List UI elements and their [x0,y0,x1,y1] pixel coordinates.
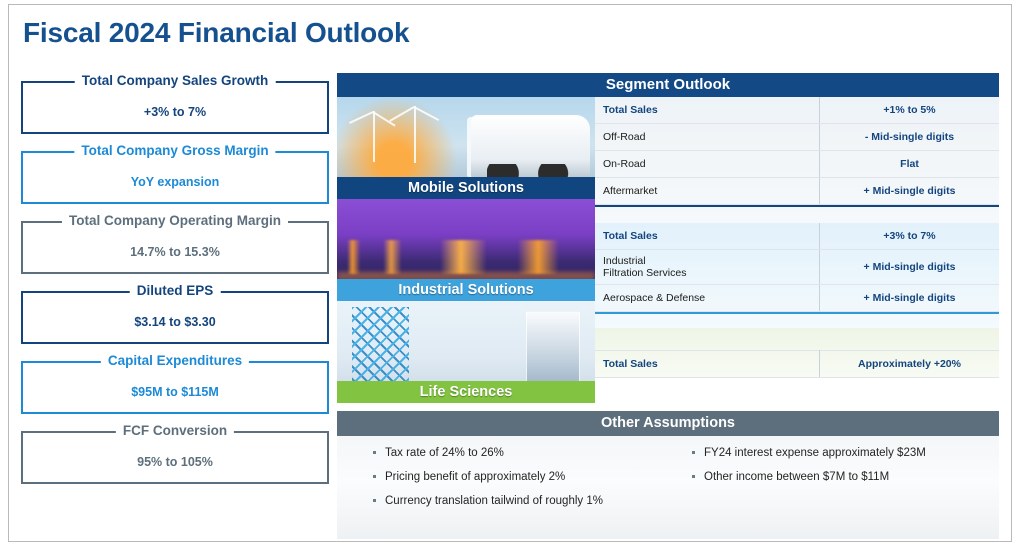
segment-table-life-sciences: Total Sales Approximately +20% [595,328,999,378]
metric-card-total-company-operating-margin[interactable]: Total Company Operating Margin 14.7% to … [21,213,329,274]
table-row: Total Sales +1% to 5% [595,97,999,124]
metric-label: FCF Conversion [116,423,234,439]
metric-value: 95% to 105% [21,455,329,469]
list-item: Other income between $7M to $11M [690,470,999,484]
assumptions-columns: Tax rate of 24% to 26% Pricing benefit o… [337,436,999,518]
slide-canvas: Fiscal 2024 Financial Outlook Total Comp… [8,4,1012,542]
assumptions-left-column: Tax rate of 24% to 26% Pricing benefit o… [337,446,668,518]
row-label: Aerospace & Defense [595,285,820,312]
metric-card-total-company-sales-growth[interactable]: Total Company Sales Growth +3% to 7% [21,73,329,134]
segment-table-mobile-solutions: Total Sales +1% to 5% Off-Road - Mid-sin… [595,97,999,223]
segment-image-tiles: Mobile Solutions Industrial Solutions Li… [337,97,595,405]
list-item: Pricing benefit of approximately 2% [371,470,668,484]
segment-table-industrial-solutions: Total Sales +3% to 7% Industrial Filtrat… [595,223,999,328]
metric-label: Total Company Operating Margin [62,213,288,229]
row-label: Total Sales [595,223,820,250]
assumptions-right-column: FY24 interest expense approximately $23M… [668,446,999,518]
table-spacer [595,207,999,223]
row-label: Industrial Filtration Services [595,250,820,285]
segment-outlook-panel: Segment Outlook Mobile Solutions Industr… [337,73,999,405]
page-title: Fiscal 2024 Financial Outlook [23,17,409,49]
row-value: - Mid-single digits [820,124,1000,151]
segment-tables: Total Sales +1% to 5% Off-Road - Mid-sin… [595,97,999,405]
other-assumptions-header: Other Assumptions [337,411,999,436]
metric-label: Total Company Sales Growth [75,73,276,89]
list-item: Tax rate of 24% to 26% [371,446,668,460]
table-row: Aftermarket + Mid-single digits [595,178,999,205]
metric-value: $95M to $115M [21,385,329,399]
metric-value: YoY expansion [21,175,329,189]
metric-value: +3% to 7% [21,105,329,119]
table-row: Total Sales +3% to 7% [595,223,999,250]
metric-card-fcf-conversion[interactable]: FCF Conversion 95% to 105% [21,423,329,484]
table-spacer [595,328,999,350]
segment-tile-industrial-solutions: Industrial Solutions [337,199,595,301]
metric-label: Total Company Gross Margin [74,143,275,159]
row-label: Total Sales [595,97,820,124]
segment-tile-label: Industrial Solutions [337,279,595,301]
row-label: Total Sales [595,351,820,378]
row-value: Flat [820,151,1000,178]
segment-tile-label: Life Sciences [337,381,595,403]
list-item: Currency translation tailwind of roughly… [371,494,668,508]
metrics-column: Total Company Sales Growth +3% to 7% Tot… [21,73,329,493]
other-assumptions-panel: Other Assumptions Tax rate of 24% to 26%… [337,411,999,539]
row-label: Off-Road [595,124,820,151]
list-item: FY24 interest expense approximately $23M [690,446,999,460]
table-row: Off-Road - Mid-single digits [595,124,999,151]
row-value: Approximately +20% [820,351,1000,378]
table-row: Industrial Filtration Services + Mid-sin… [595,250,999,285]
row-value: +1% to 5% [820,97,1000,124]
segment-outlook-header: Segment Outlook [337,73,999,97]
metric-label: Capital Expenditures [101,353,249,369]
metric-label: Diluted EPS [130,283,221,299]
table-row: On-Road Flat [595,151,999,178]
segment-tile-mobile-solutions: Mobile Solutions [337,97,595,199]
metric-card-capital-expenditures[interactable]: Capital Expenditures $95M to $115M [21,353,329,414]
table-row: Aerospace & Defense + Mid-single digits [595,285,999,312]
row-label: On-Road [595,151,820,178]
row-label: Aftermarket [595,178,820,205]
metric-card-total-company-gross-margin[interactable]: Total Company Gross Margin YoY expansion [21,143,329,204]
table-spacer [595,314,999,328]
metric-card-diluted-eps[interactable]: Diluted EPS $3.14 to $3.30 [21,283,329,344]
metric-value: $3.14 to $3.30 [21,315,329,329]
row-value: + Mid-single digits [820,285,1000,312]
row-value: + Mid-single digits [820,178,1000,205]
metric-value: 14.7% to 15.3% [21,245,329,259]
table-row: Total Sales Approximately +20% [595,351,999,378]
row-value: +3% to 7% [820,223,1000,250]
segment-tile-label: Mobile Solutions [337,177,595,199]
row-value: + Mid-single digits [820,250,1000,285]
segment-tile-life-sciences: Life Sciences [337,301,595,403]
